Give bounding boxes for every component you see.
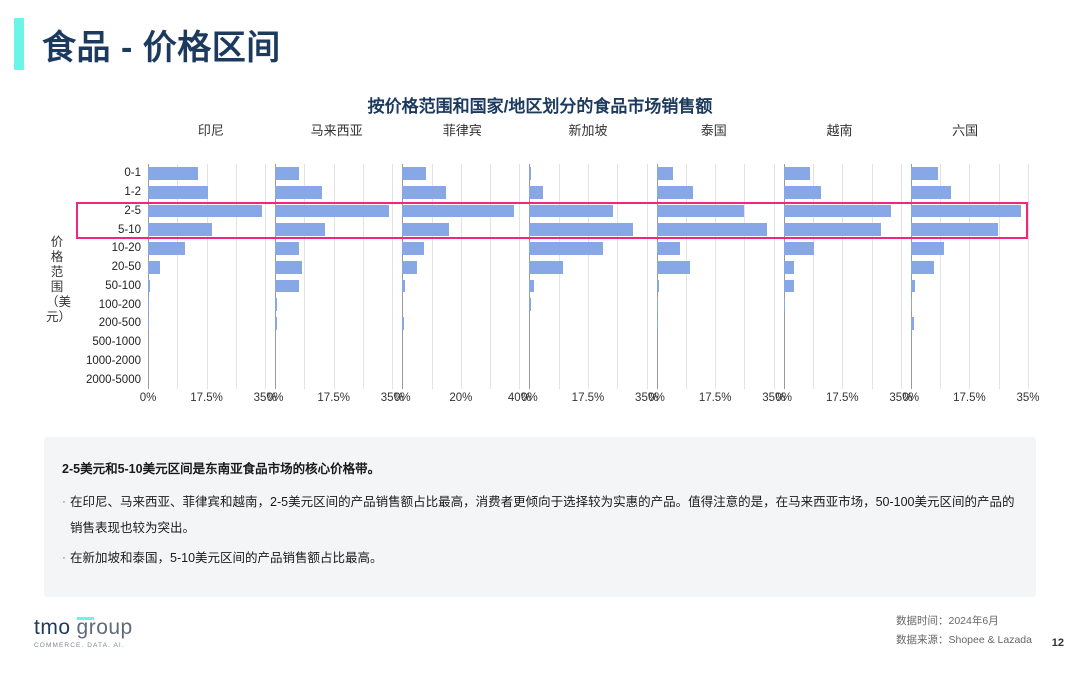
data-time-label: 数据时间： (896, 615, 949, 627)
bar-row-200-500 (148, 314, 265, 333)
bar (911, 280, 915, 293)
x-tick: 17.5% (572, 392, 605, 404)
bar (529, 261, 562, 274)
bar-row-20-50 (529, 258, 646, 277)
bar (148, 298, 149, 311)
bar (275, 317, 277, 330)
bar-row-200-500 (275, 314, 392, 333)
chart-panels (148, 164, 1028, 389)
bar-row-10-20 (275, 239, 392, 258)
bar-row-1000-2000 (402, 352, 519, 371)
bar-row-100-200 (529, 295, 646, 314)
bar-row-1-2 (402, 183, 519, 202)
bar-row-100-200 (148, 295, 265, 314)
y-tick-100-200: 100-200 (68, 295, 146, 314)
bar-row-50-100 (275, 277, 392, 296)
bar (148, 167, 198, 180)
xticks-泰国: 0%17.5%35% (657, 392, 774, 410)
xticks-印尼: 0%17.5%35% (148, 392, 265, 410)
bar (784, 280, 794, 293)
bar (529, 242, 603, 255)
commentary-item: ·在新加坡和泰国，5-10美元区间的产品销售额占比最高。 (58, 545, 1020, 571)
bar-row-50-100 (529, 277, 646, 296)
bar (657, 186, 694, 199)
slide-header: 食品 - 价格区间 (0, 18, 281, 70)
bar (402, 167, 425, 180)
xticks-马来西亚: 0%17.5%35% (275, 392, 392, 410)
gridline (519, 164, 520, 389)
bar-row-1-2 (784, 183, 901, 202)
bar-row-0-1 (529, 164, 646, 183)
gridline (647, 164, 648, 389)
bar-row-20-50 (911, 258, 1028, 277)
bar-row-2000-5000 (657, 370, 774, 389)
y-axis-title: 价格范围（美元） (46, 235, 68, 325)
bar-row-1000-2000 (529, 352, 646, 371)
xticks-菲律宾: 0%20%40% (402, 392, 519, 410)
bar (784, 167, 811, 180)
bar-row-1000-2000 (148, 352, 265, 371)
bar-row-0-1 (402, 164, 519, 183)
bar (402, 186, 446, 199)
bar (911, 186, 951, 199)
bar-row-0-1 (657, 164, 774, 183)
x-axis-tick-labels: 0%17.5%35%0%17.5%35%0%20%40%0%17.5%35%0%… (148, 392, 1028, 410)
bar-row-500-1000 (911, 333, 1028, 352)
y-tick-0-1: 0-1 (68, 164, 146, 183)
data-time-line: 数据时间：2024年6月 (896, 612, 1032, 631)
panel-header-row: 印尼马来西亚菲律宾新加坡泰国越南六国 (148, 120, 1028, 144)
bar-row-2000-5000 (911, 370, 1028, 389)
data-source-line: 数据来源：Shopee & Lazada (896, 631, 1032, 650)
bar-row-1000-2000 (911, 352, 1028, 371)
commentary-text: 在新加坡和泰国，5-10美元区间的产品销售额占比最高。 (70, 545, 1020, 571)
logo-accent-bar (77, 617, 94, 620)
x-tick: 17.5% (317, 392, 350, 404)
x-tick: 20% (449, 392, 472, 404)
panel-header-菲律宾: 菲律宾 (399, 120, 525, 144)
bar-row-500-1000 (148, 333, 265, 352)
xticks-新加坡: 0%17.5%35% (529, 392, 646, 410)
bullet-icon: · (58, 545, 70, 571)
bar-row-1000-2000 (275, 352, 392, 371)
bar-row-10-20 (784, 239, 901, 258)
plot-印尼 (148, 164, 265, 389)
x-tick: 17.5% (826, 392, 859, 404)
bar (402, 280, 404, 293)
bar-rows (148, 164, 265, 389)
bar-row-100-200 (784, 295, 901, 314)
bar-row-100-200 (911, 295, 1028, 314)
bar-row-10-20 (911, 239, 1028, 258)
bar (402, 317, 403, 330)
bar-row-500-1000 (784, 333, 901, 352)
bar-row-2000-5000 (275, 370, 392, 389)
bar-row-100-200 (275, 295, 392, 314)
bar-row-50-100 (657, 277, 774, 296)
bar (657, 298, 658, 311)
bar-row-50-100 (911, 277, 1028, 296)
bar (275, 186, 322, 199)
footer-meta: 数据时间：2024年6月 数据来源：Shopee & Lazada (896, 612, 1032, 650)
gridline (774, 164, 775, 389)
bar-row-20-50 (784, 258, 901, 277)
plot-六国 (911, 164, 1028, 389)
x-tick: 0% (140, 392, 157, 404)
bar-row-1-2 (148, 183, 265, 202)
y-axis-tick-labels: 0-11-22-55-1010-2020-5050-100100-200200-… (68, 164, 146, 389)
plot-泰国 (657, 164, 774, 389)
bar (784, 242, 814, 255)
bar-row-50-100 (784, 277, 901, 296)
commentary-panel: 2-5美元和5-10美元区间是东南亚食品市场的核心价格带。 ·在印尼、马来西亚、… (44, 437, 1036, 597)
panel-header-越南: 越南 (777, 120, 903, 144)
plot-越南 (784, 164, 901, 389)
bar-row-200-500 (911, 314, 1028, 333)
x-tick: 0% (903, 392, 920, 404)
bar (657, 242, 680, 255)
bar-row-0-1 (911, 164, 1028, 183)
panel-header-新加坡: 新加坡 (525, 120, 651, 144)
panel-印尼 (148, 164, 265, 389)
bar (911, 242, 944, 255)
bar-row-2000-5000 (784, 370, 901, 389)
price-band-highlight-box (76, 202, 1028, 240)
bar-row-1000-2000 (784, 352, 901, 371)
bar-row-20-50 (657, 258, 774, 277)
bar-rows (657, 164, 774, 389)
panel-header-马来西亚: 马来西亚 (274, 120, 400, 144)
bar-rows (529, 164, 646, 389)
y-tick-1-2: 1-2 (68, 183, 146, 202)
bar (148, 261, 160, 274)
chart-area: 印尼马来西亚菲律宾新加坡泰国越南六国 价格范围（美元） 0-11-22-55-1… (0, 120, 1080, 420)
page-title: 食品 - 价格区间 (42, 20, 281, 69)
bar-row-20-50 (402, 258, 519, 277)
x-tick: 17.5% (190, 392, 223, 404)
bar (275, 242, 298, 255)
gridline (1028, 164, 1029, 389)
tmo-group-logo: tmogroup COMMERCE. DATA. AI. (34, 616, 133, 649)
panel-header-六国: 六国 (902, 120, 1028, 144)
bar-row-100-200 (402, 295, 519, 314)
panel-越南 (784, 164, 901, 389)
bar-row-20-50 (148, 258, 265, 277)
x-tick: 35% (1016, 392, 1039, 404)
bar-row-1-2 (911, 183, 1028, 202)
y-tick-50-100: 50-100 (68, 277, 146, 296)
bar (275, 167, 298, 180)
bar (275, 298, 277, 311)
bar-rows (911, 164, 1028, 389)
bar (529, 298, 531, 311)
data-source-value: Shopee & Lazada (949, 634, 1033, 646)
bar (402, 242, 424, 255)
panel-新加坡 (529, 164, 646, 389)
commentary-heading: 2-5美元和5-10美元区间是东南亚食品市场的核心价格带。 (62, 458, 380, 477)
bar-row-0-1 (275, 164, 392, 183)
bar (657, 280, 660, 293)
bar (529, 167, 531, 180)
bar-row-10-20 (529, 239, 646, 258)
bar-rows (275, 164, 392, 389)
y-tick-1000-2000: 1000-2000 (68, 352, 146, 371)
bar (657, 167, 674, 180)
bar-rows (784, 164, 901, 389)
bar-row-200-500 (402, 314, 519, 333)
logo-text-tmo: tmo (34, 616, 71, 639)
bar (529, 280, 534, 293)
accent-bar (14, 18, 24, 70)
xticks-越南: 0%17.5%35% (784, 392, 901, 410)
commentary-item: ·在印尼、马来西亚、菲律宾和越南，2-5美元区间的产品销售额占比最高，消费者更倾… (58, 489, 1020, 541)
bar (784, 298, 785, 311)
bar (529, 186, 542, 199)
bar-row-1000-2000 (657, 352, 774, 371)
panel-泰国 (657, 164, 774, 389)
bar-row-100-200 (657, 295, 774, 314)
bullet-icon: · (58, 489, 70, 541)
bar-row-500-1000 (275, 333, 392, 352)
bar (784, 186, 821, 199)
commentary-list: ·在印尼、马来西亚、菲律宾和越南，2-5美元区间的产品销售额占比最高，消费者更倾… (58, 489, 1020, 575)
y-tick-20-50: 20-50 (68, 258, 146, 277)
bar-row-200-500 (784, 314, 901, 333)
bar (148, 280, 150, 293)
bar-row-1-2 (275, 183, 392, 202)
bar-row-20-50 (275, 258, 392, 277)
panel-六国 (911, 164, 1028, 389)
bar-row-2000-5000 (529, 370, 646, 389)
x-tick: 0% (394, 392, 411, 404)
bar (402, 261, 417, 274)
bar-row-500-1000 (529, 333, 646, 352)
bar-row-1-2 (657, 183, 774, 202)
x-tick: 0% (521, 392, 538, 404)
page-number: 12 (1052, 637, 1064, 649)
y-tick-2000-5000: 2000-5000 (68, 370, 146, 389)
logo-tagline: COMMERCE. DATA. AI. (34, 642, 133, 649)
logo-wordmark: tmogroup (34, 616, 133, 640)
gridline (265, 164, 266, 389)
xticks-六国: 0%17.5%35% (911, 392, 1028, 410)
gridline (392, 164, 393, 389)
y-tick-500-1000: 500-1000 (68, 333, 146, 352)
x-tick: 0% (648, 392, 665, 404)
bar-rows (402, 164, 519, 389)
y-tick-200-500: 200-500 (68, 314, 146, 333)
panel-菲律宾 (402, 164, 519, 389)
x-tick: 0% (775, 392, 792, 404)
plot-马来西亚 (275, 164, 392, 389)
bar-row-1-2 (529, 183, 646, 202)
bar-row-2000-5000 (148, 370, 265, 389)
bar (784, 261, 794, 274)
bar-row-50-100 (148, 277, 265, 296)
bar-row-2000-5000 (402, 370, 519, 389)
plot-菲律宾 (402, 164, 519, 389)
y-tick-10-20: 10-20 (68, 239, 146, 258)
x-tick: 0% (267, 392, 284, 404)
x-tick: 17.5% (953, 392, 986, 404)
bar (911, 298, 912, 311)
bar (148, 242, 185, 255)
panel-header-泰国: 泰国 (651, 120, 777, 144)
bar (911, 261, 934, 274)
data-time-value: 2024年6月 (949, 615, 999, 627)
commentary-text: 在印尼、马来西亚、菲律宾和越南，2-5美元区间的产品销售额占比最高，消费者更倾向… (70, 489, 1020, 541)
panel-马来西亚 (275, 164, 392, 389)
bar (148, 186, 208, 199)
bar (148, 317, 149, 330)
bar-row-200-500 (529, 314, 646, 333)
bar (657, 317, 659, 330)
bar (275, 280, 298, 293)
bar-row-10-20 (148, 239, 265, 258)
bar-row-50-100 (402, 277, 519, 296)
data-source-label: 数据来源： (896, 634, 949, 646)
bar (275, 261, 302, 274)
bar-row-500-1000 (402, 333, 519, 352)
bar (911, 317, 914, 330)
panel-header-印尼: 印尼 (148, 120, 274, 144)
bar-row-500-1000 (657, 333, 774, 352)
x-tick: 17.5% (699, 392, 732, 404)
gridline (901, 164, 902, 389)
bar-row-10-20 (657, 239, 774, 258)
bar (657, 261, 690, 274)
bar-row-10-20 (402, 239, 519, 258)
bar-row-0-1 (784, 164, 901, 183)
bar (911, 167, 938, 180)
plot-新加坡 (529, 164, 646, 389)
bar-row-200-500 (657, 314, 774, 333)
bar-row-0-1 (148, 164, 265, 183)
chart-title: 按价格范围和国家/地区划分的食品市场销售额 (0, 92, 1080, 117)
